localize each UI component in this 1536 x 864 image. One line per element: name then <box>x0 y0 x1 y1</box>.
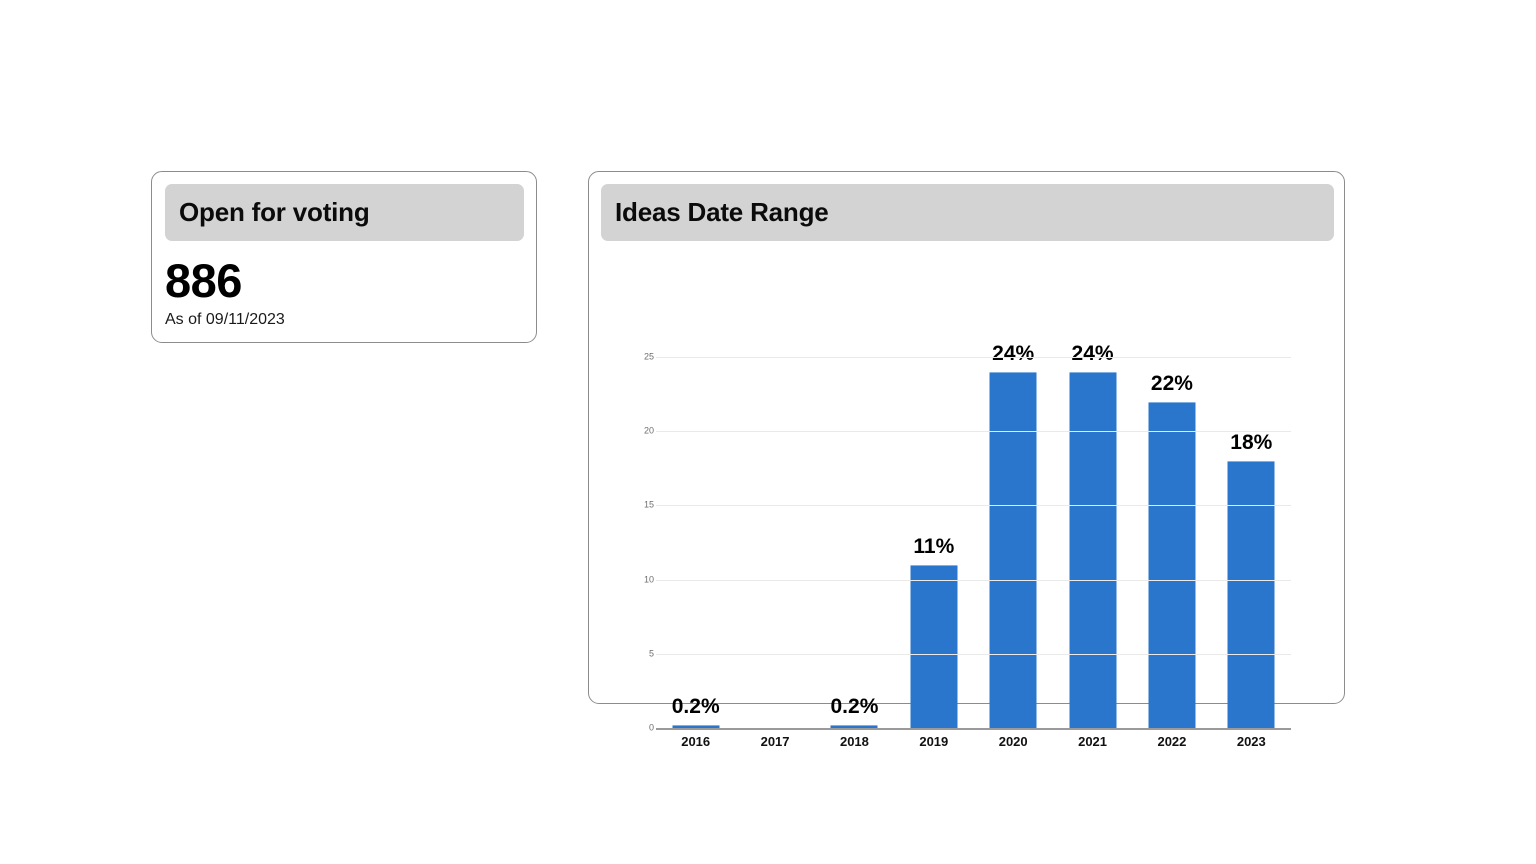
bar-value-label: 11% <box>913 536 954 557</box>
x-axis-tick-label: 2019 <box>919 735 948 748</box>
bar[interactable] <box>1148 402 1195 728</box>
bar-slot: 18%2023 <box>1212 357 1291 728</box>
x-axis-tick-label: 2016 <box>681 735 710 748</box>
gridline <box>656 505 1291 506</box>
x-axis-tick-label: 2022 <box>1157 735 1186 748</box>
bar[interactable] <box>1069 372 1116 728</box>
bar-value-label: 0.2% <box>831 696 879 717</box>
bar-value-label: 24% <box>1072 343 1114 364</box>
bar-value-label: 0.2% <box>672 696 720 717</box>
bar-series: 0.2%201620170.2%201811%201924%202024%202… <box>656 357 1291 728</box>
bar[interactable] <box>990 372 1037 728</box>
bar-slot: 0.2%2016 <box>656 357 735 728</box>
y-axis-tick-label: 20 <box>614 427 654 436</box>
kpi-card-title: Open for voting <box>179 197 370 228</box>
y-axis-tick-label: 5 <box>614 649 654 658</box>
plot-area: 0.2%201620170.2%201811%201924%202024%202… <box>644 357 1291 728</box>
gridline <box>656 357 1291 358</box>
bar-value-label: 24% <box>992 343 1034 364</box>
open-for-voting-card[interactable]: Open for voting 886 As of 09/11/2023 <box>151 171 537 343</box>
kpi-as-of-date: As of 09/11/2023 <box>165 312 285 328</box>
bar-slot: 24%2021 <box>1053 357 1132 728</box>
dashboard-canvas: Open for voting 886 As of 09/11/2023 Ide… <box>0 0 1536 864</box>
bar-chart[interactable]: 0.2%201620170.2%201811%201924%202024%202… <box>601 267 1334 687</box>
y-axis-tick-label: 0 <box>614 724 654 733</box>
chart-card-title: Ideas Date Range <box>615 197 829 228</box>
chart-card-header: Ideas Date Range <box>601 184 1334 241</box>
x-axis-tick-label: 2020 <box>999 735 1028 748</box>
gridline <box>656 431 1291 432</box>
bar[interactable] <box>910 565 957 728</box>
axis-baseline <box>656 728 1291 730</box>
bar-slot: 11%2019 <box>894 357 973 728</box>
x-axis-tick-label: 2021 <box>1078 735 1107 748</box>
kpi-value: 886 <box>165 257 242 304</box>
bar-value-label: 22% <box>1151 373 1193 394</box>
bar-slot: 0.2%2018 <box>815 357 894 728</box>
bar-slot: 22%2022 <box>1132 357 1211 728</box>
ideas-date-range-card[interactable]: Ideas Date Range 0.2%201620170.2%201811%… <box>588 171 1345 704</box>
y-axis-tick-label: 25 <box>614 353 654 362</box>
bar-value-label: 18% <box>1230 432 1272 453</box>
x-axis-tick-label: 2017 <box>761 735 790 748</box>
x-axis-tick-label: 2018 <box>840 735 869 748</box>
y-axis-tick-label: 15 <box>614 501 654 510</box>
x-axis-tick-label: 2023 <box>1237 735 1266 748</box>
gridline <box>656 654 1291 655</box>
bar[interactable] <box>1228 461 1275 728</box>
y-axis-tick-label: 10 <box>614 575 654 584</box>
bar-slot: 2017 <box>735 357 814 728</box>
kpi-card-header: Open for voting <box>165 184 524 241</box>
gridline <box>656 580 1291 581</box>
bar-slot: 24%2020 <box>974 357 1053 728</box>
